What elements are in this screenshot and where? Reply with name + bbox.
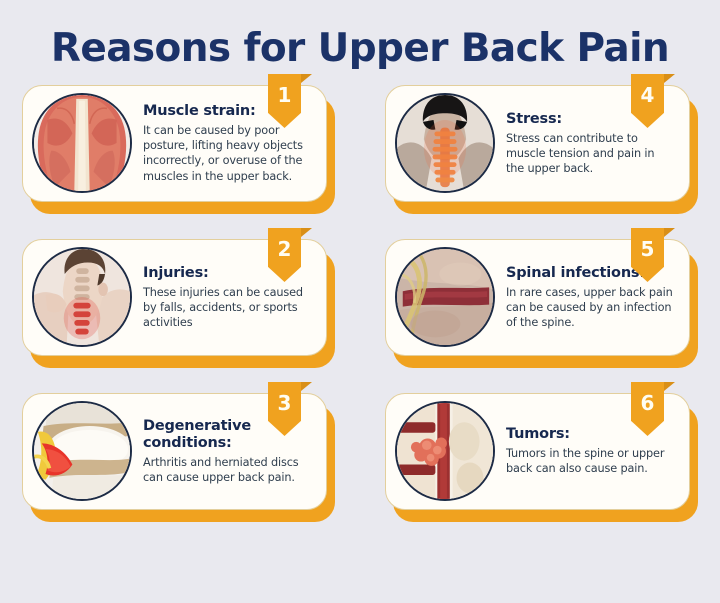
spinal-tumor-illustration-photo [395, 401, 495, 501]
reason-card-5[interactable]: Spinal infections: In rare cases, upper … [385, 239, 698, 366]
neck-injury-pain-photo [32, 247, 132, 347]
page-title: Reasons for Upper Back Pain [0, 29, 720, 70]
card-body: Tumors in the spine or upper back can al… [506, 446, 675, 476]
badge-number: 5 [631, 228, 664, 282]
badge-number: 1 [268, 74, 301, 128]
number-badge-icon: 2 [268, 228, 301, 282]
number-badge-icon: 4 [631, 74, 664, 128]
number-badge-icon: 3 [268, 382, 301, 436]
badge-number: 4 [631, 74, 664, 128]
ribbon-fold [664, 382, 675, 391]
badge-number: 6 [631, 382, 664, 436]
vertebra-degeneration-model-photo [32, 401, 132, 501]
spinal-infection-tissue-photo [395, 247, 495, 347]
reason-card-4[interactable]: Stress: Stress can contribute to muscle … [385, 85, 698, 212]
badge-number: 2 [268, 228, 301, 282]
card-body: Arthritis and herniated discs can cause … [143, 455, 312, 485]
reason-card-6[interactable]: Tumors: Tumors in the spine or upper bac… [385, 393, 698, 520]
number-badge-icon: 1 [268, 74, 301, 128]
ribbon-fold [664, 228, 675, 237]
back-muscles-anatomy-photo [32, 93, 132, 193]
card-body: In rare cases, upper back pain can be ca… [506, 285, 675, 330]
number-badge-icon: 6 [631, 382, 664, 436]
card-body: These injuries can be caused by falls, a… [143, 285, 312, 330]
infographic-poster: Reasons for Upper Back Pain [0, 0, 720, 603]
card-body: It can be caused by poor posture, liftin… [143, 123, 312, 184]
ribbon-fold [301, 228, 312, 237]
reasons-card-grid: Muscle strain: It can be caused by poor … [10, 80, 710, 543]
reason-card-2[interactable]: Injuries: These injuries can be caused b… [22, 239, 335, 366]
ribbon-fold [301, 382, 312, 391]
reason-card-1[interactable]: Muscle strain: It can be caused by poor … [22, 85, 335, 212]
badge-number: 3 [268, 382, 301, 436]
stress-neck-tension-photo [395, 93, 495, 193]
title-bar: Reasons for Upper Back Pain [0, 0, 720, 80]
reason-card-3[interactable]: Degenerative conditions: Arthritis and h… [22, 393, 335, 520]
number-badge-icon: 5 [631, 228, 664, 282]
card-body: Stress can contribute to muscle tension … [506, 131, 675, 176]
